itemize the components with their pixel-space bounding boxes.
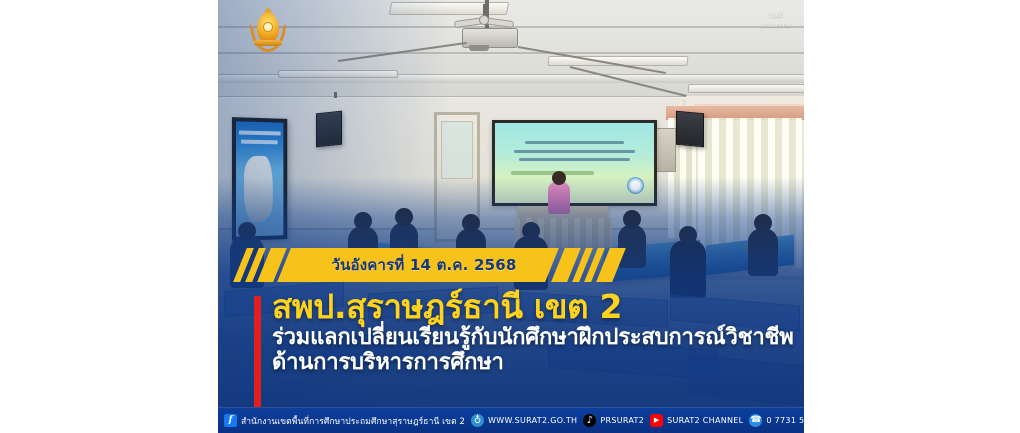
- footer-item-phone[interactable]: ☎ 0 7731 5060: [749, 414, 804, 427]
- date-banner: วันอังคารที่ 14 ต.ค. 2568: [218, 248, 804, 282]
- headline-sub-line-1: ร่วมแลกเปลี่ยนเรียนรู้กับนักศึกษาฝึกประส…: [272, 326, 794, 351]
- website-icon: ♁: [471, 414, 484, 427]
- screenshot-canvas: วันที่ ถ่ายภาพ วันอังคารที่ 14 ต.ค. 2568…: [0, 0, 1020, 433]
- footer-label-website: WWW.SURAT2.GO.TH: [488, 416, 577, 425]
- footer-label-phone: 0 7731 5060: [766, 416, 804, 425]
- facebook-icon: f: [224, 414, 237, 427]
- headline-sub-line-2: ด้านการบริหารการศึกษา: [272, 351, 794, 376]
- footer-label-tiktok: PRSURAT2: [600, 416, 644, 425]
- youtube-icon: ▶: [650, 414, 663, 427]
- headline-main: สพป.สุราษฎร์ธานี เขต 2: [272, 290, 794, 325]
- wall-speaker: [676, 111, 704, 147]
- tiktok-icon: ♪: [583, 414, 596, 427]
- projector: [462, 28, 518, 48]
- red-accent-bar: [254, 296, 261, 420]
- date-banner-text: วันอังคารที่ 14 ต.ค. 2568: [314, 248, 534, 282]
- watermark-line-2: ถ่ายภาพ: [761, 20, 790, 30]
- phone-icon: ☎: [749, 414, 762, 427]
- thai-ministry-of-education-emblem-icon: [248, 8, 288, 54]
- news-poster: วันที่ ถ่ายภาพ วันอังคารที่ 14 ต.ค. 2568…: [218, 0, 804, 433]
- footer-item-tiktok[interactable]: ♪ PRSURAT2: [583, 414, 644, 427]
- footer-item-facebook[interactable]: f สำนักงานเขตพื้นที่การศึกษาประถมศึกษาสุ…: [224, 414, 465, 428]
- footer-item-website[interactable]: ♁ WWW.SURAT2.GO.TH: [471, 414, 577, 427]
- contact-footer-bar: f สำนักงานเขตพื้นที่การศึกษาประถมศึกษาสุ…: [218, 407, 804, 433]
- footer-item-youtube[interactable]: ▶ SURAT2 CHANNEL: [650, 414, 743, 427]
- watermark-line-1: วันที่: [761, 10, 790, 20]
- title-block: สพป.สุราษฎร์ธานี เขต 2 ร่วมแลกเปลี่ยนเรี…: [272, 290, 794, 376]
- photo-watermark: วันที่ ถ่ายภาพ: [761, 10, 790, 30]
- footer-label-youtube: SURAT2 CHANNEL: [667, 416, 743, 425]
- ceiling-light: [688, 84, 804, 93]
- footer-label-facebook: สำนักงานเขตพื้นที่การศึกษาประถมศึกษาสุรา…: [241, 414, 465, 428]
